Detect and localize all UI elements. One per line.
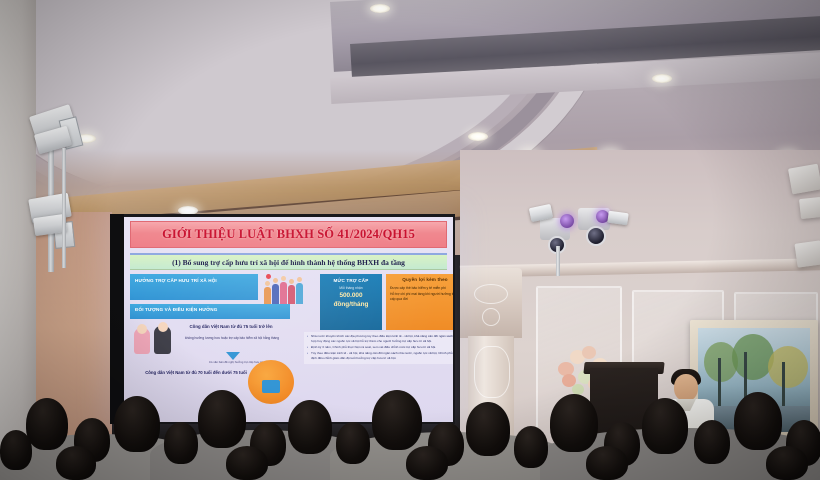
rights-item: Hỗ trợ chi phí mai táng khi người hưởng … — [390, 292, 453, 302]
balloon-icon — [266, 274, 271, 279]
rights-block: Quyền lợi kèm theo Được cấp thẻ bảo hiểm… — [386, 274, 453, 330]
audience-head — [26, 398, 68, 450]
camera-lens-icon — [586, 226, 606, 246]
person-figure — [296, 277, 303, 304]
amount-note-label: Mỗi tháng nhận — [323, 286, 379, 291]
light-stand-pole — [62, 148, 66, 268]
body-bullet: Tùy theo điều kiện kinh tế - xã hội, khả… — [307, 351, 453, 361]
seated-audience — [0, 370, 820, 480]
slide-subtitle: (1) Bổ sung trợ cấp hưu trí xã hội để hì… — [172, 258, 405, 267]
group1-title: Công dân Việt Nam từ đủ 75 tuổi trở lên — [176, 324, 286, 330]
slide-title-banner: GIỚI THIỆU LUẬT BHXH SỐ 41/2024/QH15 — [130, 221, 447, 248]
amount-block: MỨC TRỢ CẤP Mỗi tháng nhận 500.000 đồng/… — [320, 274, 382, 330]
audience-head — [466, 402, 510, 456]
people-illustration — [264, 276, 303, 304]
audience-head — [226, 446, 268, 480]
slide-subtitle-banner: (1) Bổ sung trợ cấp hưu trí xã hội để hì… — [130, 253, 447, 270]
audience-head — [766, 446, 808, 480]
downlight — [468, 132, 488, 141]
downlight — [370, 4, 390, 13]
stage-light-fixture — [607, 211, 628, 226]
audience-head — [372, 390, 422, 450]
benefit-header-label: HƯỞNG TRỢ CẤP HƯU TRÍ XÃ HỘI — [135, 278, 253, 285]
downlight — [652, 74, 672, 83]
person-figure — [272, 278, 279, 304]
audience-head — [734, 392, 782, 450]
conference-hall-photo: GIỚI THIỆU LUẬT BHXH SỐ 41/2024/QH15 (1)… — [0, 0, 820, 480]
amount-header-label: MỨC TRỢ CẤP — [323, 278, 379, 285]
audience-head — [586, 446, 628, 480]
person-figure — [288, 279, 295, 304]
audience-head — [56, 446, 96, 480]
body-bullet-list: Nhà nước khuyến khích các địa phương tùy… — [304, 332, 453, 364]
benefit-header-block: HƯỞNG TRỢ CẤP HƯU TRÍ XÃ HỘI — [130, 274, 258, 300]
audience-head — [114, 396, 160, 452]
rights-item: Được cấp thẻ bảo hiểm y tế miễn phí — [390, 286, 453, 291]
audience-head — [694, 420, 730, 464]
amount-unit: đồng/tháng — [323, 301, 379, 309]
audience-head — [336, 422, 370, 464]
purple-spotlight — [560, 214, 574, 228]
person-figure — [264, 281, 271, 304]
ceiling-speaker — [788, 164, 820, 195]
criteria-header-label: ĐỐI TƯỢNG VÀ ĐIỀU KIỆN HƯỞNG — [135, 307, 285, 314]
ceiling-speaker — [799, 197, 820, 219]
group1-note: không hưởng lương hưu hoặc trợ cấp bảo h… — [180, 336, 284, 340]
audience-head — [550, 394, 598, 452]
light-mount-bracket — [556, 246, 560, 276]
slide-title: GIỚI THIỆU LUẬT BHXH SỐ 41/2024/QH15 — [162, 227, 415, 242]
audience-head — [642, 398, 688, 454]
audience-head — [164, 422, 198, 464]
person-figure — [280, 276, 287, 304]
amount-value: 500.000 — [323, 292, 379, 300]
column-capital — [460, 268, 522, 338]
criteria-header-block: ĐỐI TƯỢNG VÀ ĐIỀU KIỆN HƯỞNG — [130, 304, 290, 319]
body-bullet: Định kỳ 3 năm, Chính phủ thực hiện rà so… — [307, 345, 453, 350]
audience-head — [198, 390, 246, 448]
audience-head — [406, 446, 448, 480]
ceiling-speaker — [794, 240, 820, 267]
audience-head — [0, 430, 32, 470]
audience-head — [514, 426, 548, 468]
rights-header-label: Quyền lợi kèm theo — [390, 277, 453, 284]
audience-head — [288, 400, 332, 454]
body-bullet: Nhà nước khuyến khích các địa phương tùy… — [307, 334, 453, 344]
flow-arrow-icon — [226, 352, 240, 360]
